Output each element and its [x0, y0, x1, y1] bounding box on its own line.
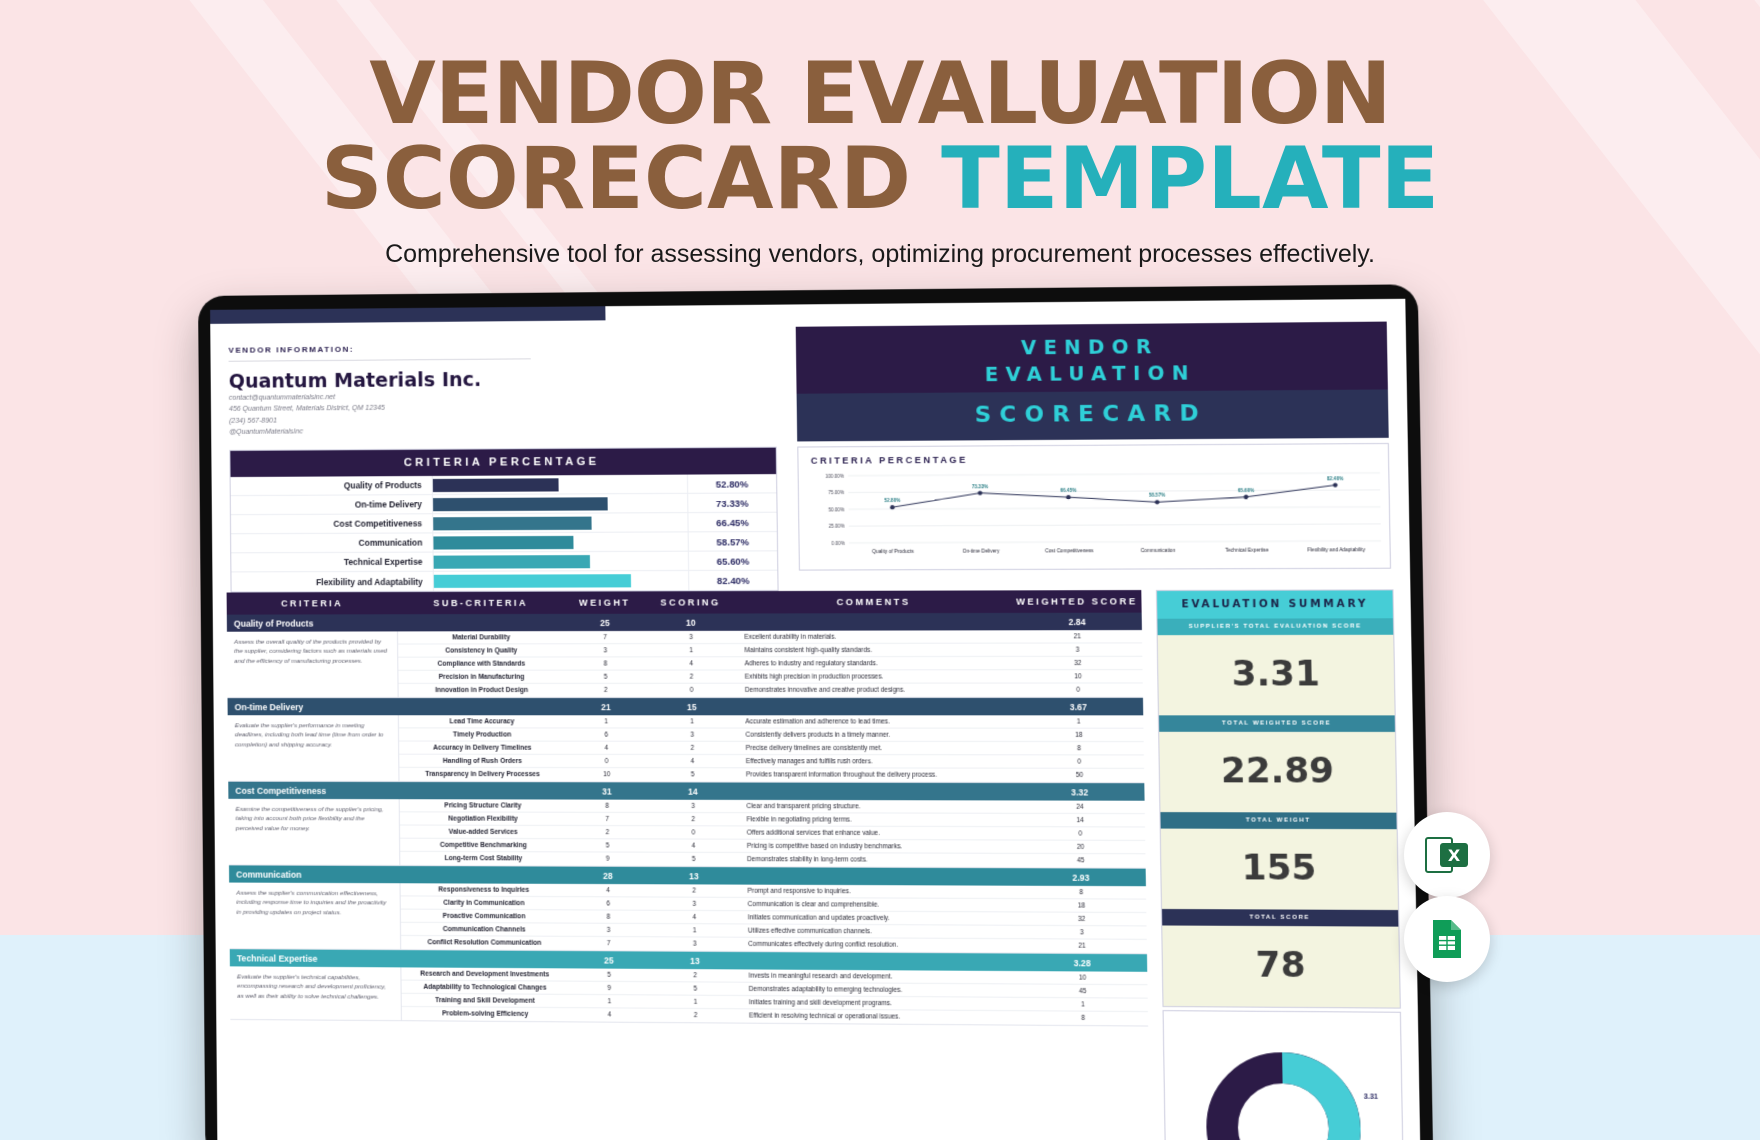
cell-weight: 8: [565, 660, 647, 667]
bar-fill: [433, 497, 608, 511]
cell-weight: 4: [569, 1011, 651, 1019]
group-weighted-score: 2.93: [1016, 872, 1146, 883]
cell-scoring: 4: [646, 660, 736, 667]
line-chart-gridline: [849, 507, 1381, 509]
bar-track: [433, 552, 690, 571]
cell-weight: 3: [568, 926, 650, 934]
table-body: Quality of Products25102.84Assess the ov…: [227, 613, 1148, 1027]
line-chart-data-label: 65.60%: [1238, 488, 1254, 493]
line-chart-ytick: 50.00%: [828, 507, 844, 512]
scorecard-title-upper: VENDOR EVALUATION: [796, 322, 1388, 394]
donut-svg: [1164, 1011, 1403, 1140]
cell-subcriteria: Consistency in Quality: [398, 647, 564, 654]
cell-comment: Maintains consistent high-quality standa…: [736, 646, 1013, 654]
group-scoring: 10: [646, 617, 736, 627]
spreadsheet-sheet: VENDOR INFORMATION: Quantum Materials In…: [210, 299, 1420, 1140]
line-chart-series: [892, 485, 1336, 507]
cell-subcriteria: Innovation in Product Design: [399, 687, 565, 694]
cell-comment: Invests in meaningful research and devel…: [740, 972, 1018, 981]
cell-scoring: 5: [648, 771, 738, 778]
cell-subcriteria: Negotiation Flexibility: [400, 815, 567, 823]
line-chart-data-label: 82.40%: [1327, 476, 1343, 481]
cell-comment: Excellent durability in materials.: [736, 633, 1013, 641]
cell-scoring: 2: [650, 971, 740, 979]
bar-chart-row: Flexibility and Adaptability82.40%: [231, 571, 777, 592]
page-title-accent: TEMPLATE: [941, 129, 1439, 229]
group-weighted-score: 3.28: [1017, 957, 1147, 968]
line-chart-gridline: [849, 541, 1381, 543]
group-scoring: 13: [649, 870, 739, 881]
cell-comment: Flexible in negotiating pricing terms.: [738, 816, 1015, 824]
line-chart-category-label: Technical Expertise: [1225, 548, 1269, 554]
criteria-description: Evaluate the supplier's technical capabi…: [230, 966, 402, 1020]
bar-chart-row: Cost Competitiveness66.45%: [231, 513, 777, 535]
line-chart-category-label: On-time Delivery: [962, 548, 1000, 554]
tablet-mockup: VENDOR INFORMATION: Quantum Materials In…: [198, 284, 1433, 1140]
cell-subcriteria: Clarity in Communication: [401, 899, 568, 907]
group-name: Cost Competitiveness: [228, 785, 399, 795]
cell-subcriteria: Problem-solving Efficiency: [402, 1010, 569, 1018]
cell-weight: 2: [565, 687, 647, 694]
bar-track: [433, 571, 690, 591]
cell-weight: 9: [567, 855, 649, 862]
cell-weighted-score: 0: [1014, 687, 1143, 694]
bar-track: [432, 513, 688, 532]
cell-weight: 7: [566, 815, 648, 822]
cell-scoring: 2: [647, 744, 737, 751]
cell-comment: Effectively manages and fulfills rush or…: [738, 758, 1015, 765]
line-chart-ytick: 0.00%: [831, 541, 844, 546]
criteria-percentage-bar-chart: CRITERIA PERCENTAGE Quality of Products5…: [229, 447, 778, 593]
summary-item-label: SUPPLIER'S TOTAL EVALUATION SCORE: [1157, 618, 1393, 635]
cell-weighted-score: 24: [1015, 803, 1145, 810]
bar-chart-row: Quality of Products52.80%: [231, 474, 777, 496]
cell-scoring: 3: [647, 731, 737, 738]
cell-subcriteria: Responsiveness to Inquiries: [401, 886, 568, 894]
cell-comment: Consistently delivers products in a time…: [737, 731, 1014, 738]
table-header-row: CRITERIA SUB-CRITERIA WEIGHT SCORING COM…: [227, 590, 1142, 615]
cell-scoring: 3: [650, 940, 740, 948]
cell-weighted-score: 45: [1018, 987, 1148, 995]
cell-scoring: 0: [648, 829, 738, 836]
table-header-weight: WEIGHT: [564, 597, 646, 607]
cell-scoring: 2: [650, 1012, 740, 1020]
summary-item-label: TOTAL SCORE: [1162, 909, 1398, 927]
table-group-body: Examine the competitiveness of the suppl…: [228, 799, 1145, 869]
group-scoring: 13: [650, 955, 740, 966]
google-sheets-file-icon: [1425, 917, 1469, 961]
criteria-description: Examine the competitiveness of the suppl…: [228, 799, 400, 865]
bar-chart-rows: Quality of Products52.80%On-time Deliver…: [231, 474, 778, 591]
cell-comment: Demonstrates adaptability to emerging te…: [740, 985, 1018, 994]
bar-fill: [433, 517, 592, 531]
cell-weight: 6: [567, 900, 649, 907]
table-group-body: Assess the overall quality of the produc…: [227, 630, 1143, 698]
bar-chart-row: Technical Expertise65.60%: [231, 551, 777, 572]
cell-weighted-score: 18: [1014, 731, 1143, 738]
cell-scoring: 3: [649, 900, 739, 908]
criteria-percentage-line-chart: CRITERIA PERCENTAGE 100.00%75.00%50.00%2…: [797, 443, 1391, 571]
cell-scoring: 0: [647, 687, 737, 694]
subcriteria-rows: Responsiveness to Inquiries42Prompt and …: [401, 883, 1147, 953]
table-group-body: Evaluate the supplier's technical capabi…: [230, 966, 1148, 1026]
cell-comment: Initiates communication and updates proa…: [740, 914, 1017, 922]
cell-weighted-score: 3: [1017, 928, 1147, 936]
cell-scoring: 4: [649, 913, 739, 921]
cell-weighted-score: 50: [1015, 772, 1144, 779]
table-group-row: Cost Competitiveness31143.32: [228, 782, 1144, 801]
evaluation-summary-panel: EVALUATION SUMMARY SUPPLIER'S TOTAL EVAL…: [1156, 589, 1401, 1008]
cell-subcriteria: Compliance with Standards: [398, 660, 564, 667]
criteria-description: Assess the overall quality of the produc…: [227, 631, 399, 697]
table-group-body: Evaluate the supplier's performance in m…: [228, 715, 1145, 783]
cell-scoring: 3: [648, 802, 738, 809]
bar-chart-row: Communication58.57%: [231, 532, 777, 553]
cell-weighted-score: 1: [1014, 718, 1143, 725]
bar-chart-row: On-time Delivery73.33%: [231, 493, 777, 515]
vendor-info-label: VENDOR INFORMATION:: [228, 341, 775, 355]
cell-weighted-score: 20: [1016, 843, 1146, 851]
line-chart-point: [1244, 495, 1249, 500]
line-chart-ytick: 25.00%: [829, 524, 845, 529]
cell-weighted-score: 18: [1017, 902, 1147, 910]
page-subtitle: Comprehensive tool for assessing vendors…: [0, 240, 1760, 269]
cell-weight: 0: [566, 757, 648, 764]
bar-track: [432, 532, 689, 551]
bar-value-label: 66.45%: [688, 516, 776, 528]
line-chart-data-label: 52.80%: [884, 498, 900, 503]
cell-subcriteria: Communication Channels: [401, 925, 568, 933]
table-row[interactable]: Handling of Rush Orders04Effectively man…: [399, 755, 1144, 769]
table-row[interactable]: Precision in Manufacturing52Exhibits hig…: [398, 670, 1142, 684]
subcriteria-rows: Lead Time Accuracy11Accurate estimation …: [399, 715, 1144, 782]
cell-weight: 5: [568, 971, 650, 979]
table-header-weighted: WEIGHTED SCORE: [1012, 596, 1141, 607]
cell-comment: Pricing is competitive based on industry…: [739, 842, 1016, 850]
table-group-row: Quality of Products25102.84: [227, 613, 1142, 632]
cell-weight: 7: [568, 940, 650, 948]
cell-subcriteria: Accuracy in Delivery Timelines: [399, 744, 566, 751]
group-weight: 28: [567, 870, 649, 880]
cell-scoring: 2: [646, 673, 736, 680]
cell-comment: Accurate estimation and adherence to lea…: [737, 718, 1014, 725]
page-header: VENDOR EVALUATION SCORECARD TEMPLATE Com…: [0, 0, 1760, 269]
svg-text:X: X: [1448, 846, 1461, 865]
cell-scoring: 1: [649, 927, 739, 935]
table-group-body: Assess the supplier's communication effe…: [229, 883, 1147, 955]
line-chart-point: [978, 491, 983, 496]
line-chart-category-label: Cost Competitiveness: [1045, 548, 1094, 554]
cell-weighted-score: 10: [1018, 974, 1148, 982]
cell-weighted-score: 21: [1017, 942, 1147, 950]
cell-scoring: 1: [647, 718, 737, 725]
table-row[interactable]: Compliance with Standards84Adheres to in…: [398, 657, 1142, 671]
cell-subcriteria: Timely Production: [399, 731, 566, 738]
donut-center-value: 3.31: [1364, 1094, 1379, 1101]
cell-weighted-score: 21: [1013, 633, 1142, 640]
google-sheets-file-badge[interactable]: [1404, 896, 1490, 982]
bar-fill: [434, 555, 591, 569]
cell-weighted-score: 32: [1013, 659, 1142, 666]
bar-value-label: 58.57%: [689, 536, 777, 548]
cell-comment: Communication is clear and comprehensibl…: [739, 900, 1016, 908]
cell-subcriteria: Precision in Manufacturing: [398, 673, 564, 680]
bar-value-label: 52.80%: [688, 478, 776, 490]
cell-subcriteria: Conflict Resolution Communication: [401, 939, 568, 947]
scorecard-title-line2: EVALUATION: [796, 359, 1388, 390]
cell-subcriteria: Transparency in Delivery Processes: [399, 771, 566, 778]
line-chart-point: [1066, 495, 1071, 500]
table-header-subcriteria: SUB-CRITERIA: [398, 598, 564, 609]
cell-scoring: 4: [648, 842, 738, 849]
group-weighted-score: 3.67: [1014, 701, 1143, 711]
cell-comment: Demonstrates innovative and creative pro…: [737, 687, 1014, 694]
cell-weighted-score: 0: [1016, 830, 1146, 838]
evaluation-donut-chart: 3.31: [1163, 1010, 1404, 1140]
vendor-info-divider: [229, 358, 531, 361]
evaluation-summary-title: EVALUATION SUMMARY: [1157, 590, 1393, 618]
tablet-screen: VENDOR INFORMATION: Quantum Materials In…: [210, 299, 1420, 1140]
page-title-line2: SCORECARD TEMPLATE: [0, 136, 1760, 222]
table-row[interactable]: Consistency in Quality31Maintains consis…: [398, 643, 1142, 657]
bar-fill: [433, 536, 573, 550]
excel-file-badge[interactable]: X: [1404, 812, 1490, 898]
cell-weighted-score: 1: [1018, 1000, 1148, 1008]
cell-scoring: 5: [650, 985, 740, 993]
line-chart-category-label: Flexibility and Adaptability: [1307, 547, 1365, 553]
cell-weight: 3: [564, 647, 646, 654]
cell-weight: 8: [566, 802, 648, 809]
bar-fill: [433, 478, 559, 492]
cell-subcriteria: Training and Skill Development: [402, 996, 569, 1004]
bar-category-label: On-time Delivery: [231, 499, 432, 510]
table-row[interactable]: Lead Time Accuracy11Accurate estimation …: [399, 715, 1144, 728]
cell-subcriteria: Research and Development Investments: [401, 970, 568, 978]
sheet-top-strip: [210, 306, 605, 324]
cell-scoring: 4: [647, 757, 737, 764]
scorecard-title-block: VENDOR EVALUATION SCORECARD: [796, 322, 1389, 442]
cell-comment: Exhibits high precision in production pr…: [737, 673, 1014, 680]
group-weight: 31: [566, 786, 648, 796]
vendor-information-block: VENDOR INFORMATION: Quantum Materials In…: [228, 341, 776, 438]
bar-value-label: 73.33%: [688, 497, 776, 509]
table-group-row: On-time Delivery21153.67: [228, 698, 1144, 715]
cell-weight: 7: [564, 634, 646, 641]
cell-subcriteria: Proactive Communication: [401, 912, 568, 920]
cell-subcriteria: Adaptability to Technological Changes: [402, 983, 569, 991]
line-chart-gridline: [848, 490, 1380, 493]
cell-weighted-score: 3: [1013, 646, 1142, 653]
cell-weighted-score: 32: [1017, 915, 1147, 923]
summary-item-label: TOTAL WEIGHTED SCORE: [1159, 715, 1395, 732]
line-chart-category-label: Quality of Products: [872, 549, 914, 555]
bar-value-label: 82.40%: [689, 575, 777, 586]
cell-scoring: 1: [650, 998, 740, 1006]
summary-item-label: TOTAL WEIGHT: [1160, 812, 1396, 829]
cell-weight: 5: [565, 673, 647, 680]
cell-subcriteria: Lead Time Accuracy: [399, 718, 565, 725]
group-name: On-time Delivery: [228, 702, 399, 712]
summary-item-value: 155: [1161, 829, 1398, 910]
bar-track: [432, 475, 688, 495]
cell-weight: 4: [567, 886, 649, 893]
subcriteria-rows: Material Durability73Excellent durabilit…: [398, 630, 1143, 697]
table-row[interactable]: Transparency in Delivery Processes105Pro…: [399, 768, 1144, 782]
cell-comment: Demonstrates stability in long-term cost…: [739, 856, 1016, 864]
group-weight: 21: [565, 702, 647, 712]
table-row[interactable]: Timely Production63Consistently delivers…: [399, 728, 1144, 742]
cell-weight: 10: [566, 771, 648, 778]
cell-subcriteria: Value-added Services: [400, 828, 567, 836]
subcriteria-rows: Research and Development Investments52In…: [401, 967, 1148, 1025]
cell-subcriteria: Long-term Cost Stability: [400, 855, 567, 863]
bar-category-label: Cost Competitiveness: [231, 518, 432, 529]
cell-subcriteria: Handling of Rush Orders: [399, 757, 566, 764]
cell-weighted-score: 0: [1015, 758, 1144, 765]
vendor-social: @QuantumMaterialsInc: [229, 423, 776, 438]
line-chart-gridline: [848, 473, 1380, 476]
line-chart-data-label: 73.33%: [972, 484, 988, 489]
line-chart-data-label: 66.45%: [1060, 488, 1076, 493]
excel-file-icon: X: [1424, 832, 1470, 878]
group-name: Quality of Products: [227, 618, 398, 628]
table-header-comments: COMMENTS: [736, 597, 1013, 608]
group-weighted-score: 3.32: [1015, 787, 1145, 798]
cell-comment: Communicates effectively during conflict…: [740, 941, 1017, 950]
cell-comment: Offers additional services that enhance …: [738, 829, 1015, 837]
cell-weight: 9: [568, 984, 650, 992]
summary-item-value: 22.89: [1159, 732, 1396, 813]
cell-comment: Provides transparent information through…: [738, 771, 1015, 779]
line-chart-svg: 100.00%75.00%50.00%25.00%0.00%52.80%Qual…: [799, 463, 1390, 568]
evaluation-table: CRITERIA SUB-CRITERIA WEIGHT SCORING COM…: [227, 590, 1149, 1027]
line-chart-point: [1333, 483, 1338, 488]
group-scoring: 14: [648, 786, 738, 796]
bar-category-label: Communication: [231, 537, 432, 548]
cell-weighted-score: 8: [1016, 888, 1146, 896]
cell-weighted-score: 8: [1014, 745, 1143, 752]
line-chart-point: [890, 505, 895, 510]
line-chart-category-label: Communication: [1141, 548, 1176, 554]
cell-scoring: 5: [649, 856, 739, 863]
bar-fill: [434, 574, 631, 588]
summary-item-value: 78: [1162, 925, 1400, 1007]
cell-subcriteria: Material Durability: [398, 634, 564, 641]
bar-track: [432, 494, 688, 513]
cell-scoring: 3: [646, 633, 736, 640]
cell-comment: Utilizes effective communication channel…: [740, 927, 1017, 936]
cell-weighted-score: 14: [1015, 816, 1145, 824]
cell-weight: 1: [565, 718, 647, 725]
bar-value-label: 65.60%: [689, 555, 777, 566]
page-title-main: SCORECARD: [321, 129, 911, 229]
line-chart-ytick: 100.00%: [825, 474, 844, 479]
cell-comment: Initiates training and skill development…: [741, 999, 1019, 1008]
cell-comment: Prompt and responsive to inquiries.: [739, 887, 1016, 895]
table-header-criteria: CRITERIA: [227, 598, 398, 608]
cell-weight: 2: [567, 828, 649, 835]
bar-category-label: Flexibility and Adaptability: [231, 576, 432, 587]
table-header-scoring: SCORING: [645, 597, 735, 607]
cell-weighted-score: 10: [1013, 673, 1142, 680]
line-chart-data-label: 58.57%: [1149, 493, 1165, 498]
cell-weight: 8: [567, 913, 649, 921]
table-row[interactable]: Long-term Cost Stability95Demonstrates s…: [400, 852, 1145, 868]
page-title-line1: VENDOR EVALUATION: [0, 52, 1760, 136]
line-chart-gridline: [849, 524, 1381, 526]
subcriteria-rows: Pricing Structure Clarity83Clear and tra…: [400, 799, 1146, 867]
bar-category-label: Quality of Products: [231, 480, 432, 491]
scorecard-title-line3: SCORECARD: [797, 390, 1389, 442]
criteria-description: Evaluate the supplier's performance in m…: [228, 715, 400, 781]
cell-subcriteria: Competitive Benchmarking: [400, 841, 567, 849]
cell-weighted-score: 8: [1018, 1014, 1148, 1022]
cell-weight: 4: [566, 744, 648, 751]
cell-scoring: 1: [646, 647, 736, 654]
group-scoring: 15: [647, 702, 737, 712]
evaluation-summary-items: SUPPLIER'S TOTAL EVALUATION SCORE3.31TOT…: [1157, 618, 1399, 1007]
group-name: Technical Expertise: [230, 953, 402, 964]
criteria-description: Assess the supplier's communication effe…: [229, 883, 401, 950]
line-chart-ytick: 75.00%: [828, 490, 844, 495]
cell-subcriteria: Pricing Structure Clarity: [400, 802, 567, 809]
group-name: Communication: [229, 869, 400, 880]
cell-scoring: 2: [648, 815, 738, 822]
group-weight: 25: [564, 617, 646, 627]
group-weighted-score: 2.84: [1012, 616, 1141, 627]
summary-item-value: 3.31: [1158, 635, 1395, 716]
cell-weight: 6: [565, 731, 647, 738]
cell-scoring: 2: [649, 887, 739, 895]
group-weight: 25: [568, 955, 650, 966]
line-chart-point: [1155, 500, 1160, 505]
cell-comment: Clear and transparent pricing structure.: [738, 802, 1015, 810]
bar-chart-title: CRITERIA PERCENTAGE: [230, 448, 776, 477]
table-row[interactable]: Innovation in Product Design20Demonstrat…: [399, 683, 1143, 697]
cell-comment: Adheres to industry and regulatory stand…: [736, 659, 1013, 666]
table-row[interactable]: Material Durability73Excellent durabilit…: [398, 630, 1142, 644]
table-row[interactable]: Accuracy in Delivery Timelines42Precise …: [399, 742, 1144, 756]
cell-weight: 1: [568, 997, 650, 1005]
cell-comment: Efficient in resolving technical or oper…: [741, 1012, 1019, 1021]
bar-category-label: Technical Expertise: [231, 557, 432, 568]
cell-weighted-score: 45: [1016, 857, 1146, 865]
cell-comment: Precise delivery timelines are consisten…: [737, 744, 1014, 751]
cell-weight: 5: [567, 842, 649, 849]
